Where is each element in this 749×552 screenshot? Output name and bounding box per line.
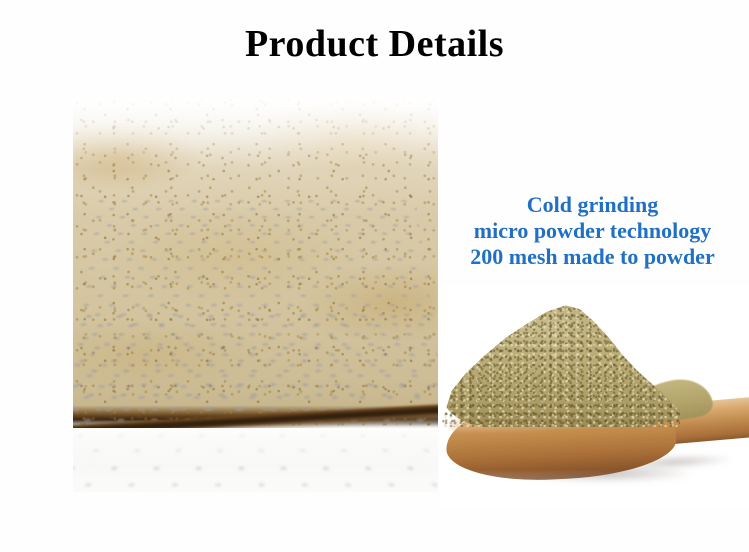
caption-line-3: 200 mesh made to powder bbox=[440, 244, 745, 270]
photo-top-haze bbox=[73, 98, 438, 170]
product-image-powder-tray bbox=[73, 98, 438, 492]
feature-caption: Cold grinding micro powder technology 20… bbox=[440, 192, 745, 270]
lower-white-sheet bbox=[73, 428, 438, 492]
lower-sheet-perforations bbox=[73, 428, 438, 491]
caption-line-1: Cold grinding bbox=[440, 192, 745, 218]
powder-mound-grain bbox=[442, 299, 680, 427]
product-details-banner: Product Details Cold grinding micro powd… bbox=[0, 0, 749, 552]
caption-line-2: micro powder technology bbox=[440, 218, 745, 244]
product-image-spoon-powder bbox=[440, 285, 749, 510]
page-title: Product Details bbox=[0, 22, 749, 66]
